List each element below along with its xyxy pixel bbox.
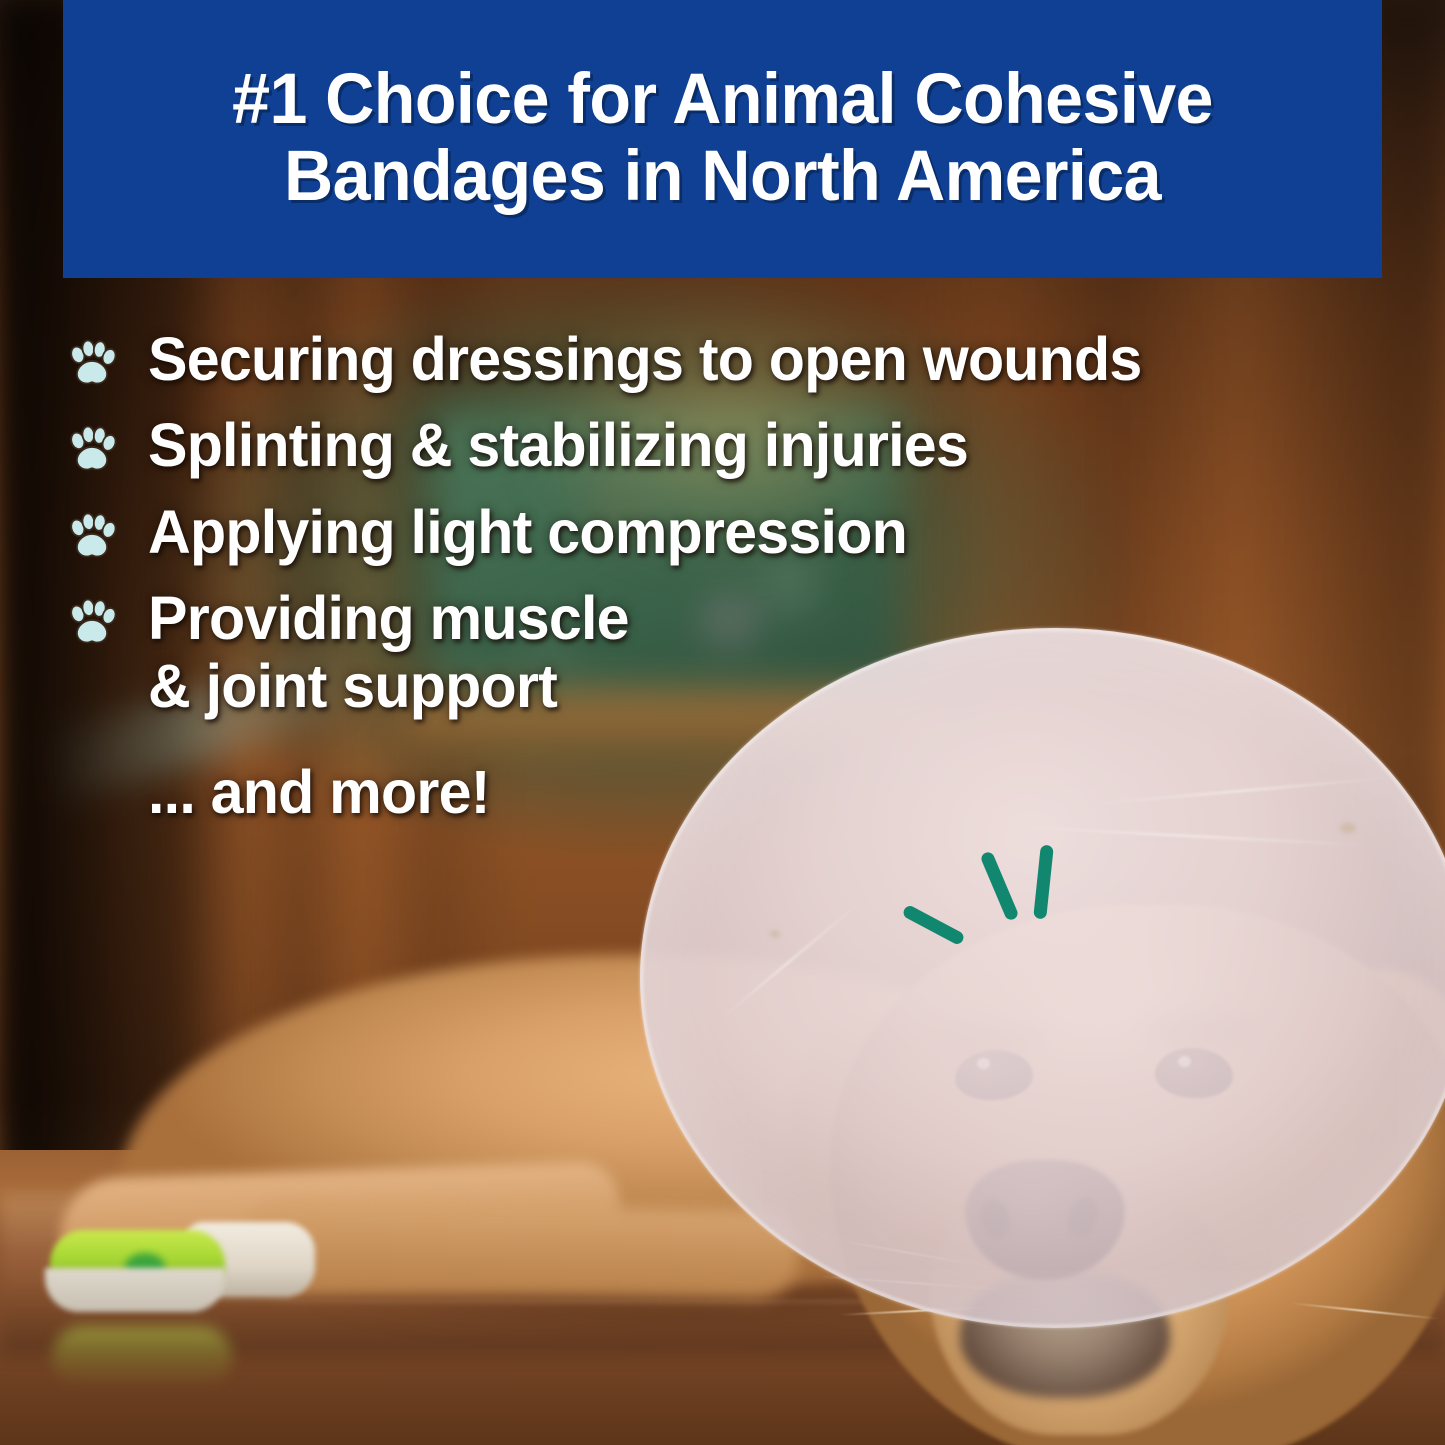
benefits-list: Securing dressings to open wounds Splint… (66, 325, 1426, 827)
cone-speck (770, 930, 780, 938)
list-item-label: Securing dressings to open wounds (148, 325, 1142, 393)
list-item-label: Providing muscle & joint support (148, 584, 629, 721)
promo-image: #1 Choice for Animal Cohesive Bandages i… (0, 0, 1445, 1445)
list-item-label: Splinting & stabilizing injuries (148, 411, 968, 479)
paw-print-icon (66, 512, 118, 564)
paw-print-icon (66, 339, 118, 391)
paw-print-icon (66, 598, 118, 650)
dog-second-leg (239, 1200, 800, 1300)
paw-print-icon (66, 425, 118, 477)
list-item: Applying light compression (66, 498, 1426, 566)
toy-floor-reflection (52, 1326, 232, 1388)
list-item: Splinting & stabilizing injuries (66, 411, 1426, 479)
list-item: Providing muscle & joint support (66, 584, 1426, 721)
header-banner: #1 Choice for Animal Cohesive Bandages i… (63, 0, 1382, 278)
list-item: Securing dressings to open wounds (66, 325, 1426, 393)
banner-title: #1 Choice for Animal Cohesive Bandages i… (116, 62, 1328, 215)
list-item-label: Applying light compression (148, 498, 907, 566)
closing-label: ... and more! (148, 757, 1388, 827)
toy-white-band (45, 1268, 225, 1312)
